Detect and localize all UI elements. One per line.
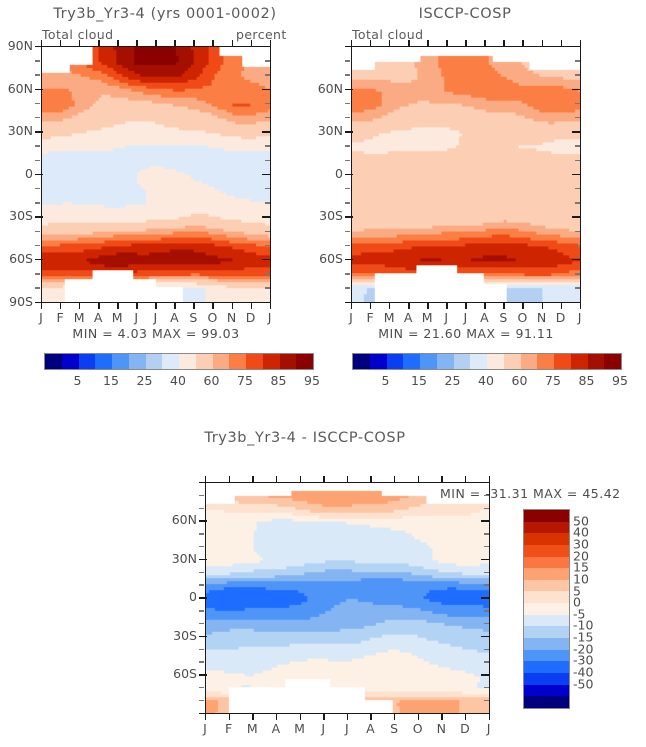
y-tick bbox=[265, 188, 270, 189]
x-tick bbox=[117, 302, 118, 309]
x-tick bbox=[79, 302, 80, 309]
model-units-label: percent bbox=[236, 27, 287, 42]
x-tick bbox=[561, 302, 562, 309]
y-tick bbox=[345, 245, 350, 246]
x-axis-label: F bbox=[50, 310, 70, 325]
x-axis-label: S bbox=[493, 310, 513, 325]
y-tick bbox=[345, 174, 353, 175]
colorbar-swatch bbox=[604, 354, 621, 369]
obs-panel-title: ISCCP-COSP bbox=[350, 6, 580, 22]
y-tick bbox=[572, 216, 580, 217]
x-axis-label: M bbox=[242, 721, 262, 736]
x-axis-label: J bbox=[313, 721, 333, 736]
colorbar-swatch bbox=[229, 354, 246, 369]
colorbar-tick-label: 85 bbox=[579, 373, 595, 388]
y-axis-label: 60S bbox=[303, 251, 343, 266]
colorbar-swatch bbox=[521, 354, 538, 369]
x-axis-label: A bbox=[88, 310, 108, 325]
x-axis-label: J bbox=[436, 310, 456, 325]
y-tick bbox=[345, 273, 350, 274]
x-tick bbox=[300, 713, 301, 720]
y-tick bbox=[199, 572, 204, 573]
y-tick bbox=[262, 131, 270, 132]
colorbar-tick-label: 40 bbox=[170, 373, 186, 388]
colorbar-swatch bbox=[263, 354, 280, 369]
x-tick bbox=[174, 302, 175, 309]
model-colorbar-labels: 515254060758595 bbox=[44, 373, 312, 389]
colorbar-swatch bbox=[45, 354, 62, 369]
y-tick bbox=[484, 623, 489, 624]
y-tick bbox=[199, 610, 204, 611]
y-tick bbox=[35, 160, 40, 161]
y-tick bbox=[262, 174, 270, 175]
y-tick bbox=[265, 117, 270, 118]
colorbar-swatch bbox=[524, 626, 569, 638]
x-tick bbox=[229, 713, 230, 720]
colorbar-swatch bbox=[62, 354, 79, 369]
x-axis-label: A bbox=[474, 310, 494, 325]
x-tick-top bbox=[155, 40, 156, 47]
x-axis-label: J bbox=[570, 310, 590, 325]
x-tick bbox=[232, 302, 233, 309]
colorbar-swatch bbox=[524, 533, 569, 545]
y-tick bbox=[262, 89, 270, 90]
colorbar-swatch bbox=[524, 603, 569, 615]
x-axis-label: M bbox=[379, 310, 399, 325]
y-tick bbox=[481, 636, 489, 637]
x-tick-top bbox=[193, 40, 194, 47]
y-tick bbox=[199, 533, 204, 534]
y-tick bbox=[199, 482, 207, 483]
y-tick bbox=[575, 202, 580, 203]
x-tick-top bbox=[232, 40, 233, 47]
model-plot-area[interactable] bbox=[41, 46, 271, 303]
y-axis-label: 60N bbox=[157, 512, 197, 527]
y-tick bbox=[572, 89, 580, 90]
x-tick bbox=[251, 302, 252, 309]
y-tick bbox=[575, 188, 580, 189]
colorbar-tick-label: 95 bbox=[612, 373, 628, 388]
model-contour-canvas bbox=[42, 47, 270, 302]
colorbar-swatch bbox=[146, 354, 163, 369]
colorbar-tick-label: -50 bbox=[573, 676, 593, 691]
colorbar-swatch bbox=[387, 354, 404, 369]
y-tick bbox=[345, 131, 353, 132]
x-axis-label: J bbox=[455, 310, 475, 325]
obs-colorbar[interactable] bbox=[352, 353, 622, 370]
obs-variable-label: Total cloud bbox=[352, 27, 423, 42]
colorbar-swatch bbox=[524, 522, 569, 534]
y-tick bbox=[345, 60, 350, 61]
y-tick bbox=[484, 584, 489, 585]
y-tick bbox=[481, 674, 489, 675]
y-tick bbox=[35, 103, 40, 104]
x-tick bbox=[427, 302, 428, 309]
y-tick bbox=[199, 661, 204, 662]
colorbar-swatch bbox=[524, 615, 569, 627]
y-tick bbox=[345, 46, 353, 47]
x-axis-label: S bbox=[384, 721, 404, 736]
y-tick bbox=[265, 231, 270, 232]
x-tick bbox=[252, 713, 253, 720]
y-tick bbox=[481, 482, 489, 483]
x-tick-top bbox=[117, 40, 118, 47]
x-tick bbox=[155, 302, 156, 309]
y-tick bbox=[265, 103, 270, 104]
y-tick bbox=[484, 700, 489, 701]
x-tick bbox=[465, 713, 466, 720]
colorbar-tick-label: 75 bbox=[545, 373, 561, 388]
y-tick bbox=[575, 60, 580, 61]
y-tick bbox=[484, 687, 489, 688]
x-tick-top bbox=[394, 476, 395, 483]
x-tick bbox=[522, 302, 523, 309]
y-tick bbox=[35, 60, 40, 61]
x-tick bbox=[542, 302, 543, 309]
y-tick bbox=[35, 287, 40, 288]
colorbar-swatch bbox=[280, 354, 297, 369]
x-tick bbox=[205, 713, 206, 720]
model-variable-label: Total cloud bbox=[42, 27, 113, 42]
y-tick bbox=[345, 74, 350, 75]
difference-plot-area[interactable] bbox=[205, 482, 490, 714]
y-tick bbox=[199, 674, 207, 675]
y-tick bbox=[484, 508, 489, 509]
colorbar-swatch bbox=[537, 354, 554, 369]
x-tick bbox=[446, 302, 447, 309]
y-axis-label: 60S bbox=[0, 251, 33, 266]
x-axis-label: J bbox=[195, 721, 215, 736]
x-axis-label: N bbox=[431, 721, 451, 736]
y-tick bbox=[575, 231, 580, 232]
y-tick bbox=[345, 216, 353, 217]
colorbar-swatch bbox=[246, 354, 263, 369]
x-tick bbox=[136, 302, 137, 309]
colorbar-swatch bbox=[296, 354, 313, 369]
x-tick-top bbox=[212, 40, 213, 47]
y-tick bbox=[35, 302, 43, 303]
y-tick bbox=[575, 103, 580, 104]
x-axis-label: F bbox=[219, 721, 239, 736]
y-tick bbox=[35, 273, 40, 274]
colorbar-tick-label: 5 bbox=[382, 373, 390, 388]
x-tick-top bbox=[300, 476, 301, 483]
x-tick-top bbox=[347, 476, 348, 483]
colorbar-swatch bbox=[470, 354, 487, 369]
y-tick bbox=[199, 649, 204, 650]
model-colorbar[interactable] bbox=[44, 353, 314, 370]
x-tick-top bbox=[370, 40, 371, 47]
y-tick bbox=[199, 584, 204, 585]
colorbar-swatch bbox=[129, 354, 146, 369]
y-tick bbox=[265, 245, 270, 246]
x-axis-label: J bbox=[479, 721, 499, 736]
x-axis-label: D bbox=[241, 310, 261, 325]
y-tick bbox=[199, 623, 204, 624]
x-tick bbox=[270, 302, 271, 309]
colorbar-tick-label: 40 bbox=[478, 373, 494, 388]
x-tick-top bbox=[522, 40, 523, 47]
y-axis-label: 90N bbox=[0, 38, 33, 53]
x-tick bbox=[347, 713, 348, 720]
x-tick-top bbox=[427, 40, 428, 47]
y-tick bbox=[199, 559, 207, 560]
y-tick bbox=[199, 636, 207, 637]
x-tick-top bbox=[465, 476, 466, 483]
x-tick-top bbox=[252, 476, 253, 483]
y-tick bbox=[199, 687, 204, 688]
y-tick bbox=[484, 610, 489, 611]
colorbar-swatch bbox=[554, 354, 571, 369]
y-tick bbox=[575, 273, 580, 274]
y-tick bbox=[262, 216, 270, 217]
x-axis-label: F bbox=[360, 310, 380, 325]
x-axis-label: A bbox=[398, 310, 418, 325]
colorbar-swatch bbox=[179, 354, 196, 369]
difference-colorbar-labels: 50403020151050-5-10-15-20-30-40-50 bbox=[573, 509, 623, 707]
y-tick bbox=[199, 520, 207, 521]
y-axis-label: 60N bbox=[303, 81, 343, 96]
y-tick bbox=[35, 202, 40, 203]
y-axis-label: 0 bbox=[303, 166, 343, 181]
x-axis-label: A bbox=[266, 721, 286, 736]
y-axis-label: 60S bbox=[157, 666, 197, 681]
y-tick bbox=[35, 259, 43, 260]
x-tick-top bbox=[136, 40, 137, 47]
y-tick bbox=[345, 145, 350, 146]
x-tick bbox=[351, 302, 352, 309]
colorbar-tick-label: 25 bbox=[137, 373, 153, 388]
colorbar-swatch bbox=[524, 685, 569, 697]
y-tick bbox=[35, 74, 40, 75]
colorbar-tick-label: 60 bbox=[512, 373, 528, 388]
x-tick bbox=[408, 302, 409, 309]
colorbar-swatch bbox=[487, 354, 504, 369]
y-tick bbox=[575, 117, 580, 118]
x-axis-label: D bbox=[551, 310, 571, 325]
x-tick bbox=[394, 713, 395, 720]
colorbar-swatch bbox=[370, 354, 387, 369]
x-axis-label: D bbox=[455, 721, 475, 736]
colorbar-swatch bbox=[524, 696, 569, 708]
x-tick bbox=[580, 302, 581, 309]
y-tick bbox=[572, 174, 580, 175]
x-axis-label: M bbox=[290, 721, 310, 736]
colorbar-swatch bbox=[454, 354, 471, 369]
y-axis-label: 30S bbox=[0, 208, 33, 223]
colorbar-tick-label: 25 bbox=[445, 373, 461, 388]
y-axis-label: 0 bbox=[157, 589, 197, 604]
colorbar-swatch bbox=[420, 354, 437, 369]
x-tick bbox=[276, 713, 277, 720]
colorbar-swatch bbox=[524, 580, 569, 592]
colorbar-swatch bbox=[524, 591, 569, 603]
y-tick bbox=[345, 259, 353, 260]
y-tick bbox=[35, 231, 40, 232]
y-tick bbox=[262, 46, 270, 47]
x-tick-top bbox=[446, 40, 447, 47]
y-tick bbox=[345, 202, 350, 203]
y-tick bbox=[572, 302, 580, 303]
colorbar-swatch bbox=[112, 354, 129, 369]
y-tick bbox=[265, 287, 270, 288]
x-axis-label: A bbox=[360, 721, 380, 736]
colorbar-swatch bbox=[213, 354, 230, 369]
x-tick bbox=[370, 713, 371, 720]
y-tick bbox=[35, 89, 43, 90]
colorbar-swatch bbox=[524, 557, 569, 569]
x-axis-label: J bbox=[337, 721, 357, 736]
y-tick bbox=[575, 245, 580, 246]
y-tick bbox=[265, 160, 270, 161]
model-panel-title: Try3b_Yr3-4 (yrs 0001-0002) bbox=[10, 6, 320, 22]
y-tick bbox=[345, 103, 350, 104]
colorbar-tick-label: 5 bbox=[74, 373, 82, 388]
x-tick bbox=[98, 302, 99, 309]
y-tick bbox=[199, 700, 204, 701]
y-tick bbox=[199, 713, 207, 714]
y-axis-label: 30N bbox=[0, 123, 33, 138]
colorbar-swatch bbox=[524, 638, 569, 650]
y-axis-label: 30N bbox=[157, 551, 197, 566]
x-tick-top bbox=[79, 40, 80, 47]
x-tick-top bbox=[174, 40, 175, 47]
x-tick-top bbox=[251, 40, 252, 47]
x-tick-top bbox=[484, 40, 485, 47]
y-tick bbox=[572, 259, 580, 260]
y-tick bbox=[481, 520, 489, 521]
y-tick bbox=[265, 202, 270, 203]
x-tick bbox=[193, 302, 194, 309]
x-axis-label: S bbox=[183, 310, 203, 325]
colorbar-swatch bbox=[353, 354, 370, 369]
y-tick bbox=[481, 597, 489, 598]
y-tick bbox=[484, 649, 489, 650]
y-axis-label: 90S bbox=[0, 294, 33, 309]
y-tick bbox=[35, 216, 43, 217]
x-tick bbox=[370, 302, 371, 309]
x-tick-top bbox=[60, 40, 61, 47]
y-tick bbox=[35, 46, 43, 47]
y-tick bbox=[484, 533, 489, 534]
x-axis-label: A bbox=[164, 310, 184, 325]
x-axis-label: M bbox=[417, 310, 437, 325]
x-axis-label: J bbox=[260, 310, 280, 325]
y-tick bbox=[199, 546, 204, 547]
y-tick bbox=[199, 597, 207, 598]
y-tick bbox=[265, 60, 270, 61]
x-tick-top bbox=[408, 40, 409, 47]
y-tick bbox=[345, 287, 350, 288]
y-tick bbox=[575, 287, 580, 288]
difference-minmax-text: MIN = -31.31 MAX = 45.42 bbox=[440, 486, 640, 501]
y-tick bbox=[575, 160, 580, 161]
x-tick-top bbox=[389, 40, 390, 47]
y-tick bbox=[262, 302, 270, 303]
y-tick bbox=[199, 508, 204, 509]
y-tick bbox=[265, 74, 270, 75]
colorbar-swatch bbox=[524, 650, 569, 662]
colorbar-tick-label: 15 bbox=[411, 373, 427, 388]
y-tick bbox=[345, 89, 353, 90]
colorbar-tick-label: 75 bbox=[237, 373, 253, 388]
colorbar-swatch bbox=[524, 673, 569, 685]
colorbar-swatch bbox=[79, 354, 96, 369]
y-tick bbox=[345, 117, 350, 118]
obs-contour-canvas bbox=[352, 47, 580, 302]
x-axis-label: O bbox=[408, 721, 428, 736]
x-tick bbox=[484, 302, 485, 309]
y-tick bbox=[575, 145, 580, 146]
colorbar-swatch bbox=[524, 510, 569, 522]
x-tick-top bbox=[561, 40, 562, 47]
y-tick bbox=[35, 117, 40, 118]
difference-colorbar[interactable] bbox=[523, 509, 570, 709]
y-tick bbox=[35, 188, 40, 189]
x-tick-top bbox=[98, 40, 99, 47]
y-tick bbox=[262, 259, 270, 260]
colorbar-swatch bbox=[571, 354, 588, 369]
colorbar-tick-label: 85 bbox=[271, 373, 287, 388]
y-axis-label: 0 bbox=[0, 166, 33, 181]
y-axis-label: 30S bbox=[157, 628, 197, 643]
colorbar-swatch bbox=[403, 354, 420, 369]
x-tick-top bbox=[503, 40, 504, 47]
x-axis-label: J bbox=[126, 310, 146, 325]
y-axis-label: 60N bbox=[0, 81, 33, 96]
model-minmax-text: MIN = 4.03 MAX = 99.03 bbox=[41, 326, 271, 341]
x-axis-label: N bbox=[222, 310, 242, 325]
y-tick bbox=[345, 188, 350, 189]
x-tick bbox=[418, 713, 419, 720]
x-tick-top bbox=[465, 40, 466, 47]
x-tick bbox=[389, 302, 390, 309]
colorbar-swatch bbox=[524, 568, 569, 580]
x-tick bbox=[489, 713, 490, 720]
x-axis-label: O bbox=[512, 310, 532, 325]
y-axis-label: 30S bbox=[303, 208, 343, 223]
y-tick bbox=[481, 713, 489, 714]
x-tick-top bbox=[418, 476, 419, 483]
difference-contour-canvas bbox=[206, 483, 489, 713]
y-tick bbox=[35, 145, 40, 146]
x-tick bbox=[503, 302, 504, 309]
x-axis-label: O bbox=[202, 310, 222, 325]
colorbar-swatch bbox=[162, 354, 179, 369]
y-tick bbox=[265, 273, 270, 274]
colorbar-swatch bbox=[196, 354, 213, 369]
obs-minmax-text: MIN = 21.60 MAX = 91.11 bbox=[351, 326, 581, 341]
colorbar-swatch bbox=[95, 354, 112, 369]
x-tick bbox=[41, 302, 42, 309]
y-tick bbox=[345, 231, 350, 232]
colorbar-tick-label: 15 bbox=[103, 373, 119, 388]
colorbar-swatch bbox=[504, 354, 521, 369]
x-tick-top bbox=[542, 40, 543, 47]
x-tick bbox=[441, 713, 442, 720]
x-tick bbox=[323, 713, 324, 720]
y-tick bbox=[345, 160, 350, 161]
y-tick bbox=[572, 46, 580, 47]
x-tick-top bbox=[323, 476, 324, 483]
y-tick bbox=[35, 131, 43, 132]
y-axis-label: 30N bbox=[303, 123, 343, 138]
x-tick-top bbox=[370, 476, 371, 483]
obs-colorbar-labels: 515254060758595 bbox=[352, 373, 620, 389]
obs-plot-area[interactable] bbox=[351, 46, 581, 303]
y-tick bbox=[345, 302, 353, 303]
x-tick bbox=[212, 302, 213, 309]
